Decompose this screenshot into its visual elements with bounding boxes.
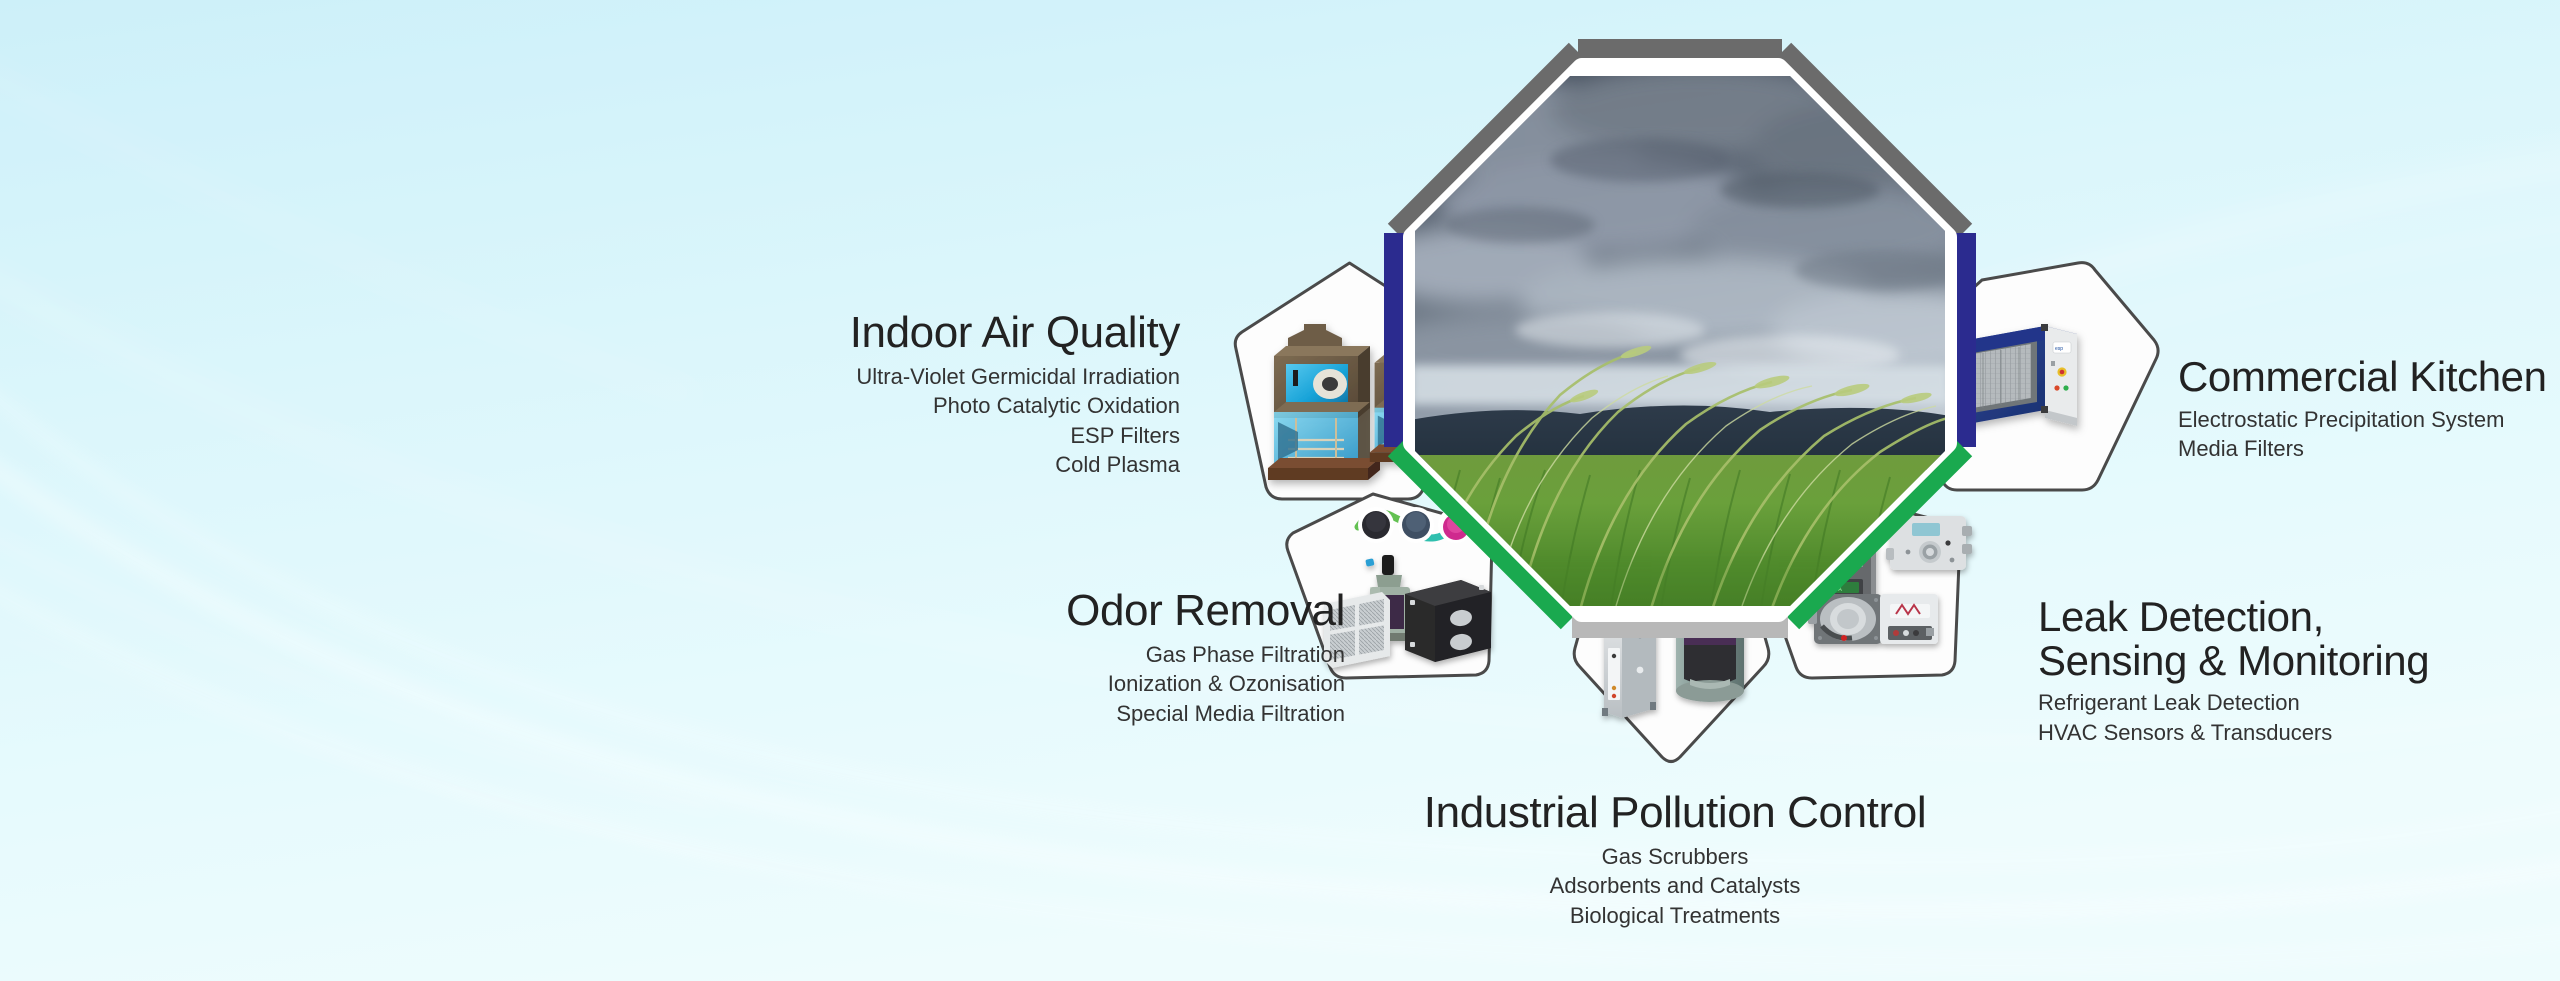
- list-item: HVAC Sensors & Transducers: [2038, 718, 2558, 747]
- list-item: Refrigerant Leak Detection: [2038, 688, 2558, 717]
- list-item: Ionization & Ozonisation: [800, 669, 1345, 698]
- items-commercial-kitchen: Electrostatic Precipitation System Media…: [2178, 405, 2560, 464]
- label-commercial-kitchen: Commercial Kitchen Electrostatic Precipi…: [2178, 355, 2560, 464]
- title-leak-detection-line1: Leak Detection,: [2038, 595, 2558, 639]
- svg-text:esp: esp: [2055, 346, 2063, 352]
- label-leak-detection: Leak Detection, Sensing & Monitoring Ref…: [2038, 595, 2558, 747]
- label-indoor-air-quality: Indoor Air Quality Ultra-Violet Germicid…: [560, 310, 1180, 480]
- items-leak-detection: Refrigerant Leak Detection HVAC Sensors …: [2038, 688, 2558, 747]
- list-item: Cold Plasma: [560, 450, 1180, 479]
- title-odor-removal: Odor Removal: [800, 588, 1345, 634]
- list-item: Ultra-Violet Germicidal Irradiation: [560, 362, 1180, 391]
- title-industrial-pollution-control: Industrial Pollution Control: [1330, 790, 2020, 836]
- diagram-layer: esp: [0, 0, 2560, 981]
- list-item: Photo Catalytic Oxidation: [560, 391, 1180, 420]
- title-leak-detection-line2: Sensing & Monitoring: [2038, 639, 2558, 683]
- list-item: Gas Phase Filtration: [800, 640, 1345, 669]
- items-odor-removal: Gas Phase Filtration Ionization & Ozonis…: [800, 640, 1345, 728]
- list-item: ESP Filters: [560, 421, 1180, 450]
- list-item: Gas Scrubbers: [1330, 842, 2020, 871]
- list-item: Adsorbents and Catalysts: [1330, 871, 2020, 900]
- list-item: Electrostatic Precipitation System: [2178, 405, 2560, 434]
- title-indoor-air-quality: Indoor Air Quality: [560, 310, 1180, 356]
- list-item: Biological Treatments: [1330, 901, 2020, 930]
- label-odor-removal: Odor Removal Gas Phase Filtration Ioniza…: [800, 588, 1345, 728]
- list-item: Media Filters: [2178, 434, 2560, 463]
- label-industrial-pollution-control: Industrial Pollution Control Gas Scrubbe…: [1330, 790, 2020, 930]
- title-commercial-kitchen: Commercial Kitchen: [2178, 355, 2560, 399]
- items-industrial-pollution-control: Gas Scrubbers Adsorbents and Catalysts B…: [1330, 842, 2020, 930]
- list-item: Special Media Filtration: [800, 699, 1345, 728]
- items-indoor-air-quality: Ultra-Violet Germicidal Irradiation Phot…: [560, 362, 1180, 480]
